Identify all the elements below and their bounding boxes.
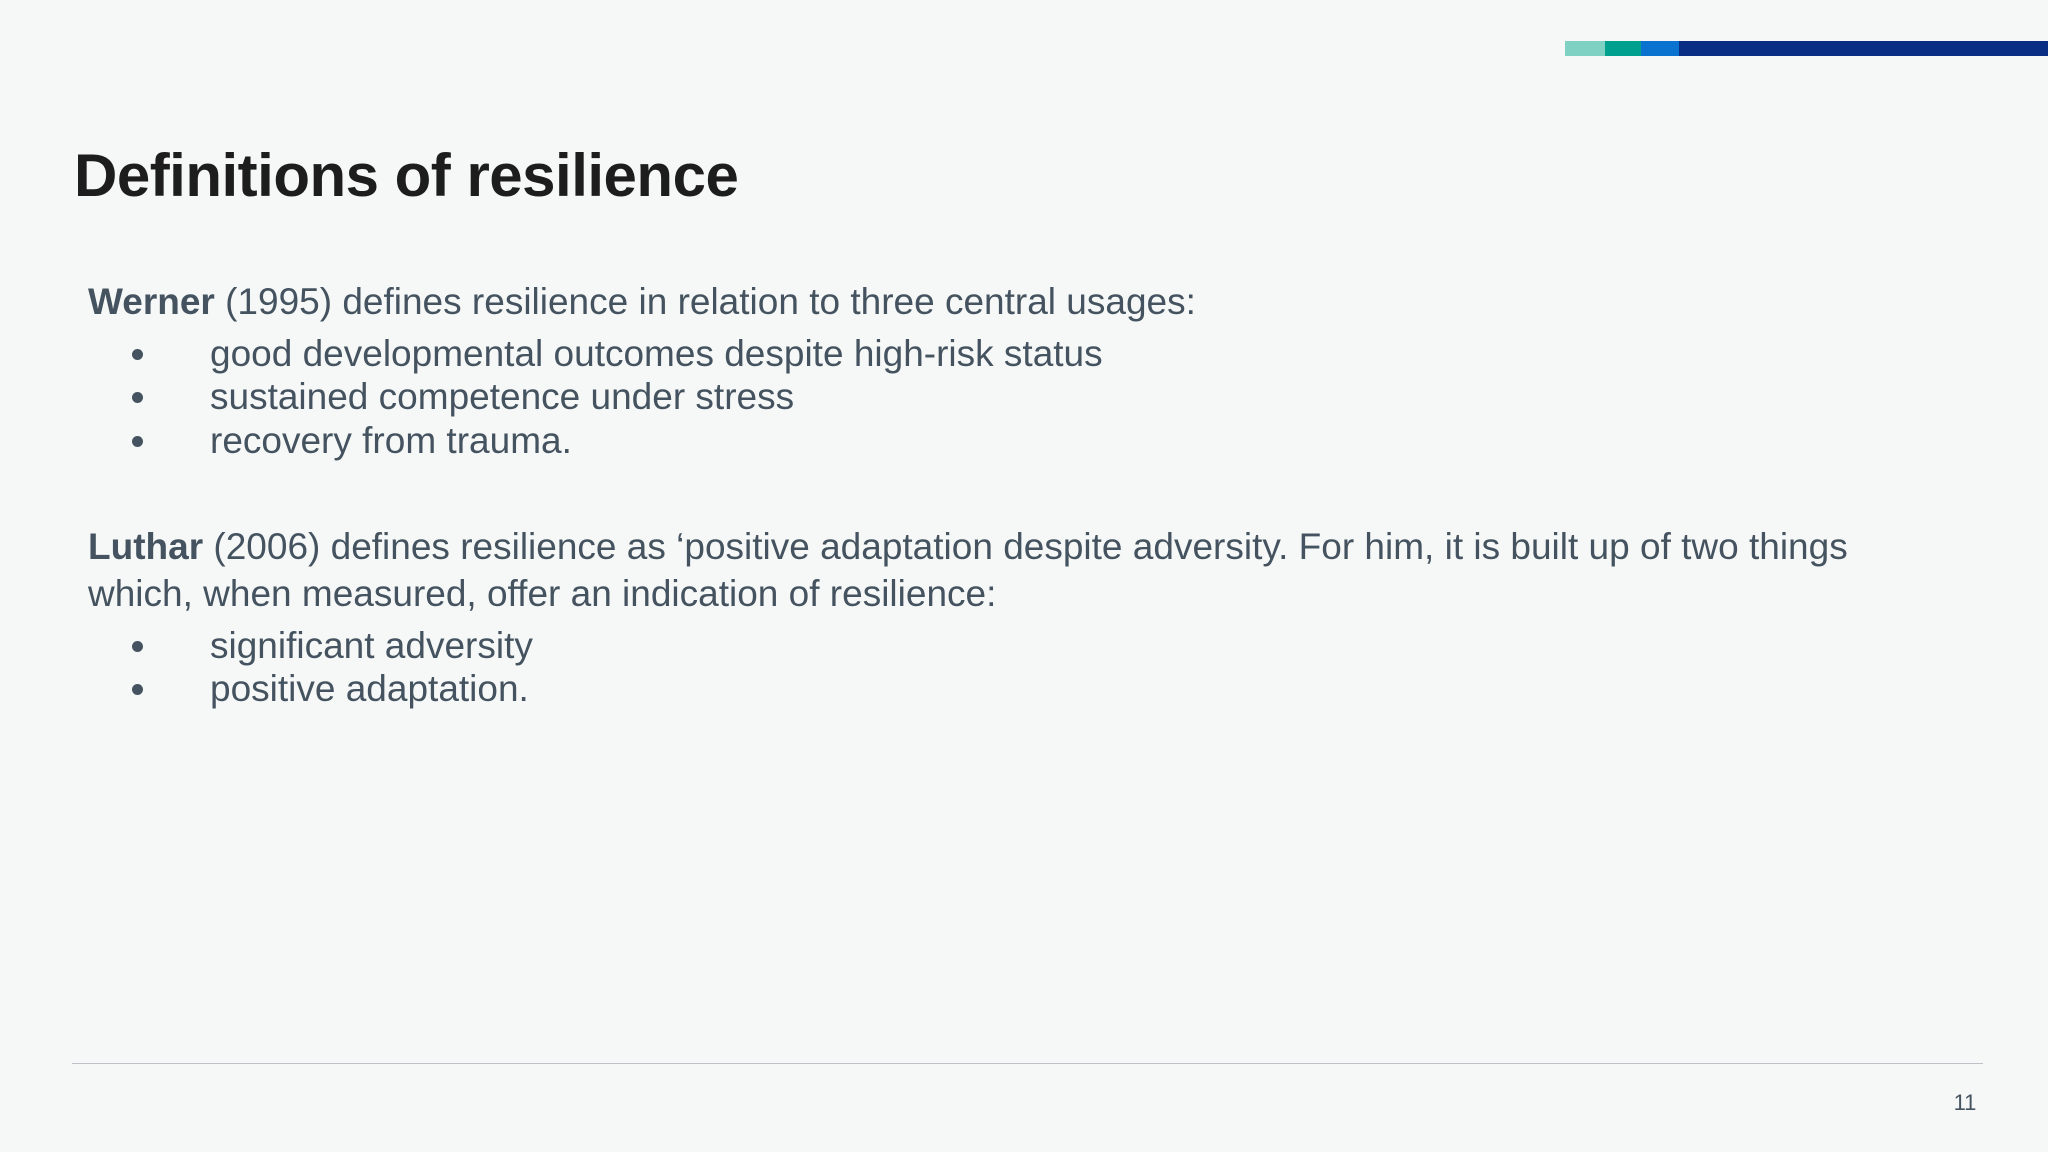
list-item: recovery from trauma.: [88, 419, 1968, 462]
list-item-label: recovery from trauma.: [210, 420, 572, 461]
footer-divider: [72, 1063, 1983, 1064]
definition-block-werner: Werner (1995) defines resilience in rela…: [88, 279, 1968, 462]
block-spacer: [88, 462, 1968, 524]
definition-text-luthar: (2006) defines resilience as ‘positive a…: [88, 526, 1848, 614]
list-item: sustained competence under stress: [88, 375, 1968, 418]
list-item: significant adversity: [88, 624, 1968, 667]
list-item: good developmental outcomes despite high…: [88, 332, 1968, 375]
slide-body: Werner (1995) defines resilience in rela…: [88, 279, 1968, 710]
citation-author-luthar: Luthar: [88, 526, 203, 567]
accent-segment-1: [1565, 41, 1605, 56]
list-item-label: significant adversity: [210, 625, 533, 666]
definition-text-werner: (1995) defines resilience in relation to…: [215, 281, 1196, 322]
definition-paragraph: Werner (1995) defines resilience in rela…: [88, 279, 1868, 326]
page-number: 11: [1940, 1090, 1990, 1116]
accent-segment-4: [1679, 41, 2048, 56]
list-item: positive adaptation.: [88, 667, 1968, 710]
bullet-dot-icon: [132, 392, 143, 403]
list-item-label: sustained competence under stress: [210, 376, 794, 417]
slide-canvas: Definitions of resilience Werner (1995) …: [0, 0, 2048, 1152]
accent-segment-3: [1641, 41, 1679, 56]
list-item-label: good developmental outcomes despite high…: [210, 333, 1103, 374]
bullet-dot-icon: [132, 436, 143, 447]
bullet-list-luthar: significant adversity positive adaptatio…: [88, 624, 1968, 711]
citation-author-werner: Werner: [88, 281, 215, 322]
definition-block-luthar: Luthar (2006) defines resilience as ‘pos…: [88, 524, 1968, 711]
bullet-dot-icon: [132, 349, 143, 360]
accent-segment-2: [1605, 41, 1641, 56]
definition-paragraph: Luthar (2006) defines resilience as ‘pos…: [88, 524, 1868, 618]
page-title: Definitions of resilience: [74, 141, 738, 210]
accent-bar: [1565, 41, 2048, 56]
bullet-dot-icon: [132, 684, 143, 695]
bullet-list-werner: good developmental outcomes despite high…: [88, 332, 1968, 462]
bullet-dot-icon: [132, 641, 143, 652]
list-item-label: positive adaptation.: [210, 668, 529, 709]
